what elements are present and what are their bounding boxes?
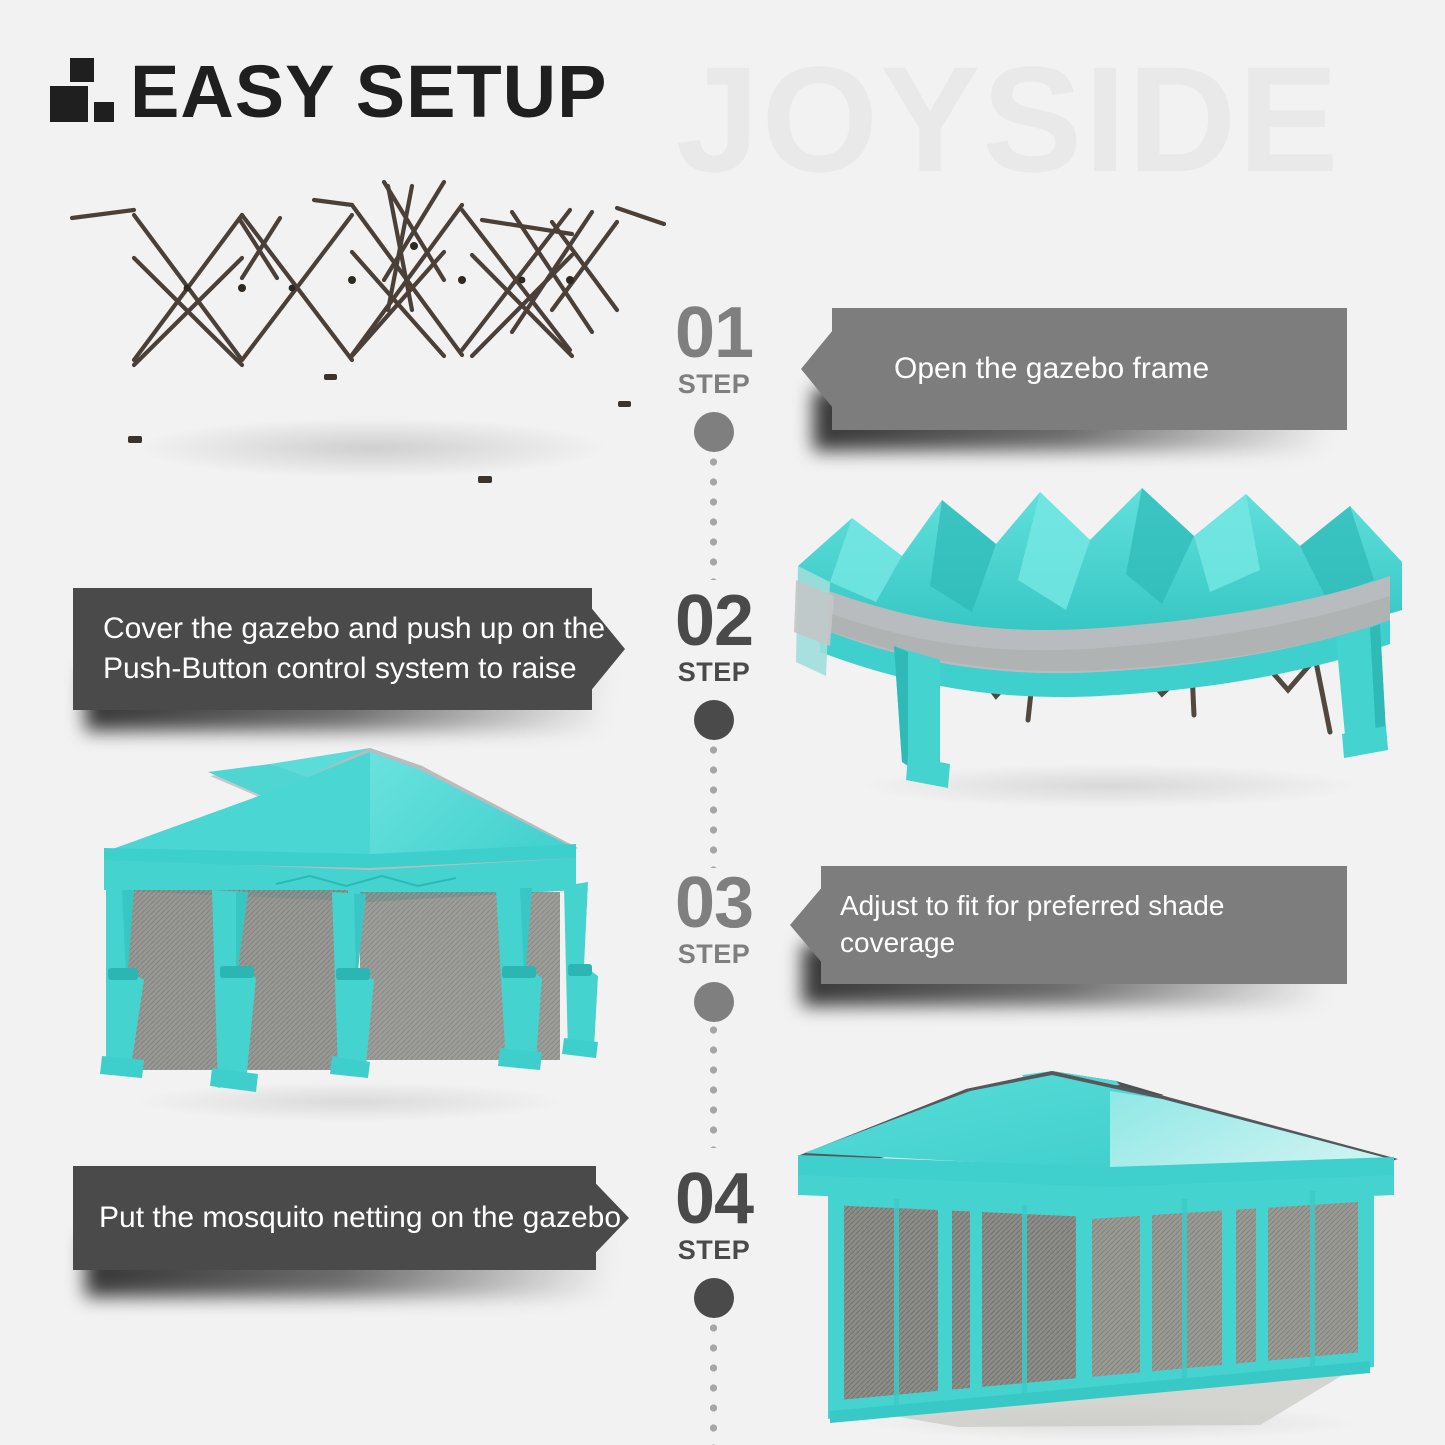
step-word: STEP [639,369,789,400]
photo-gazebo-canopy-draped [790,470,1410,810]
timeline-dotted-line-3 [708,1020,719,1148]
step-number: 02 [639,590,789,653]
timeline-dotted-line-4 [708,1318,719,1445]
timeline-dotted-line-2 [708,740,719,868]
step-banner-text: Adjust to fit for preferred shade covera… [840,888,1347,962]
logo-squares-icon [50,50,112,122]
photo-gazebo-frame-open [52,160,672,490]
step-dot-icon [694,1278,734,1318]
step-number: 04 [639,1168,789,1231]
step-banner-text: Open the gazebo frame [894,349,1209,389]
page-header: EASY SETUP [50,50,607,126]
photo-gazebo-assembled [70,730,630,1130]
step-dot-icon [694,982,734,1022]
step-banner-text: Put the mosquito netting on the gazebo [99,1198,621,1238]
step-banner-04[interactable]: Put the mosquito netting on the gazebo [73,1166,629,1270]
step-banner-02[interactable]: Cover the gazebo and push up on the Push… [73,588,625,710]
step-marker-03: 03 STEP [639,872,789,1022]
step-dot-icon [694,700,734,740]
timeline-dotted-line-1 [708,452,719,580]
photo-gazebo-with-netting [790,1055,1410,1445]
page-title: EASY SETUP [130,58,607,126]
step-dot-icon [694,412,734,452]
step-number: 01 [639,302,789,365]
step-banner-03[interactable]: Adjust to fit for preferred shade covera… [790,866,1347,984]
step-marker-01: 01 STEP [639,302,789,452]
step-marker-04: 04 STEP [639,1168,789,1318]
step-word: STEP [639,1235,789,1266]
step-banner-text: Cover the gazebo and push up on the Push… [103,609,605,688]
step-banner-01[interactable]: Open the gazebo frame [801,308,1347,430]
step-word: STEP [639,939,789,970]
brand-watermark: JOYSIDE [676,44,1340,194]
step-word: STEP [639,657,789,688]
step-marker-02: 02 STEP [639,590,789,740]
step-number: 03 [639,872,789,935]
